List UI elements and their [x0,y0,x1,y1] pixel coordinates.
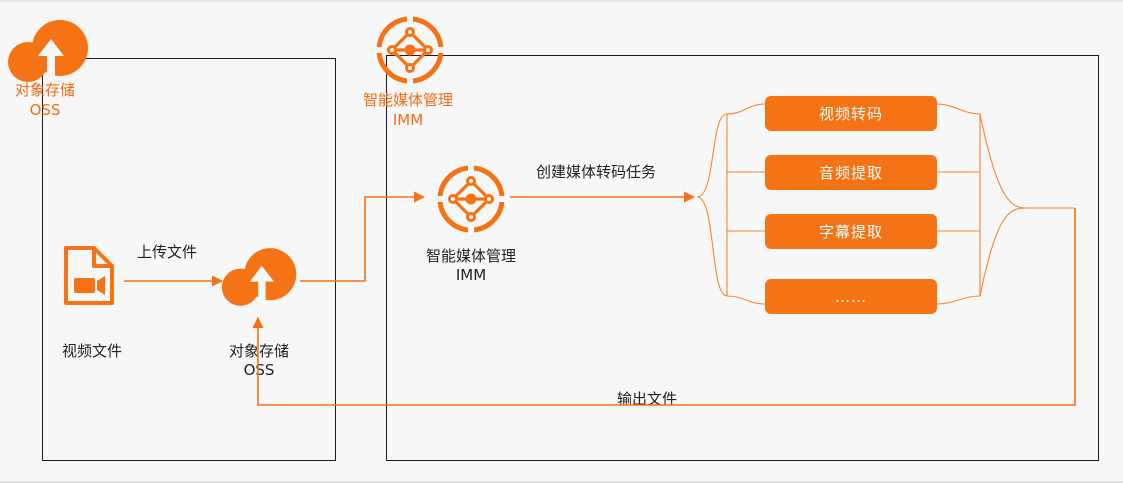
task-box-video-transcode[interactable]: 视频转码 [765,96,937,131]
object-storage-group-title: 对象存储 OSS [0,80,90,120]
oss-group-title-cn: 对象存储 [0,80,90,100]
media-network-icon [374,14,446,90]
task-box-audio-extract[interactable]: 音频提取 [765,155,937,190]
imm-group-title: 智能媒体管理 IMM [340,90,476,130]
edge-label-output: 输出文件 [557,390,737,409]
cloud-upload-icon [220,248,300,306]
imm-node-label-en: IMM [411,266,531,285]
video-file-label: 视频文件 [32,342,152,361]
edge-label-create-task: 创建媒体转码任务 [506,163,686,182]
media-network-icon [435,163,507,239]
oss-node-label-cn: 对象存储 [199,342,319,361]
task-box-more[interactable]: …… [765,279,937,314]
edge-label-upload: 上传文件 [112,243,222,262]
diagram-canvas: 对象存储 OSS [0,0,1123,483]
imm-group-title-cn: 智能媒体管理 [340,90,476,110]
oss-group-title-en: OSS [0,100,90,120]
canvas-top-border [0,0,1123,2]
cloud-upload-icon [6,20,92,82]
video-file-icon [62,245,118,311]
task-box-subtitle-extract[interactable]: 字幕提取 [765,214,937,249]
imm-node-label: 智能媒体管理 IMM [411,247,531,285]
imm-node-label-cn: 智能媒体管理 [411,247,531,266]
imm-group-title-en: IMM [340,110,476,130]
object-storage-node-label: 对象存储 OSS [199,342,319,380]
oss-node-label-en: OSS [199,361,319,380]
